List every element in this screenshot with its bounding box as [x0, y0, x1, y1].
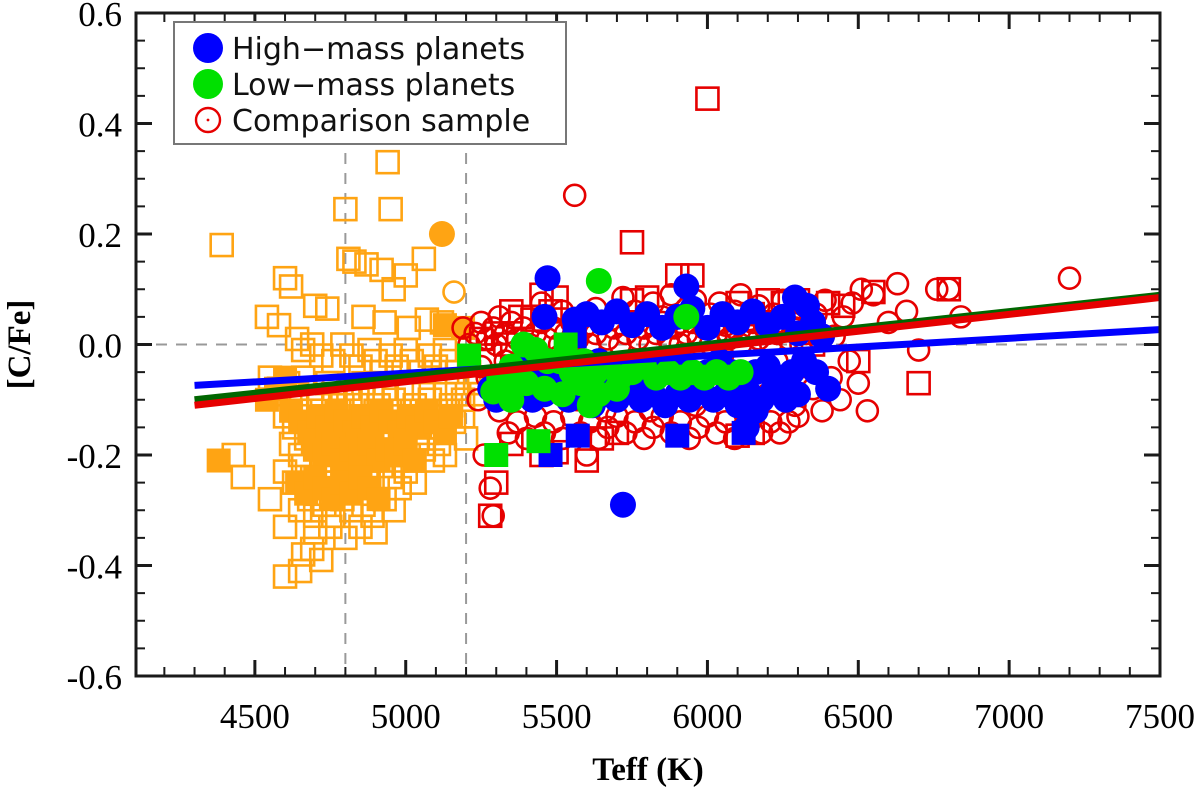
data-point-open-square — [908, 372, 930, 394]
y-tick-label: 0.4 — [78, 106, 122, 145]
data-point-open-circle — [480, 478, 501, 499]
x-tick-label: 6000 — [672, 697, 742, 736]
data-point-open-square — [374, 311, 396, 333]
data-point-circle — [532, 304, 558, 330]
scatter-plot: 4500500055006000650070007500-0.6-0.4-0.2… — [0, 0, 1200, 792]
y-tick-label: 0.6 — [78, 0, 122, 34]
y-tick-label: -0.6 — [67, 658, 122, 697]
data-point-open-square — [259, 488, 281, 510]
data-point-square — [566, 424, 590, 448]
data-point-open-square — [621, 231, 643, 253]
data-point-open-square — [380, 198, 402, 220]
data-point-square — [439, 404, 463, 428]
legend-marker-filled-circle — [193, 69, 223, 99]
y-tick-label: -0.2 — [67, 437, 122, 476]
data-point-open-square — [211, 234, 233, 256]
data-point-square — [732, 421, 756, 445]
data-point-open-square — [352, 306, 374, 328]
data-point-open-circle — [444, 282, 465, 303]
data-point-open-square — [485, 472, 507, 494]
data-point-square — [457, 344, 481, 368]
data-point-open-square — [274, 267, 296, 289]
data-point-open-circle — [857, 400, 878, 421]
data-point-open-square — [696, 88, 718, 110]
legend-marker-filled-circle — [193, 33, 223, 63]
data-point-circle — [577, 392, 603, 418]
data-point-square — [367, 487, 391, 511]
data-point-open-square — [232, 466, 254, 488]
legend-label: Comparison sample — [232, 104, 530, 139]
data-point-circle — [604, 376, 630, 402]
data-point-open-circle — [938, 279, 959, 300]
data-point-circle — [492, 373, 518, 399]
y-tick-label: -0.4 — [67, 548, 122, 587]
legend-label: Low−mass planets — [232, 68, 515, 103]
data-point-circle — [728, 359, 754, 385]
data-point-square — [554, 333, 578, 357]
legend-label: High−mass planets — [232, 32, 525, 67]
x-tick-label: 5500 — [522, 697, 592, 736]
legend-marker-dot-icon — [207, 119, 210, 122]
data-point-square — [484, 443, 508, 467]
data-point-open-square — [377, 151, 399, 173]
data-point-open-square — [847, 350, 869, 372]
data-point-open-circle — [564, 185, 585, 206]
data-point-circle — [815, 376, 841, 402]
y-tick-label: 0.2 — [78, 216, 122, 255]
data-point-square — [526, 429, 550, 453]
data-point-circle — [535, 265, 561, 291]
data-point-open-circle — [887, 273, 908, 294]
data-point-open-circle — [848, 373, 869, 394]
x-tick-label: 7500 — [1125, 697, 1195, 736]
x-tick-label: 7000 — [974, 697, 1044, 736]
chart-root: 4500500055006000650070007500-0.6-0.4-0.2… — [0, 0, 1200, 792]
data-point-circle — [429, 221, 455, 247]
data-point-circle — [586, 268, 612, 294]
data-point-circle — [610, 492, 636, 518]
data-point-circle — [673, 273, 699, 299]
data-point-circle — [743, 398, 769, 424]
series-cool-comparison-open-circles — [444, 282, 465, 303]
data-point-open-circle — [1059, 268, 1080, 289]
data-point-circle — [785, 381, 811, 407]
data-point-open-square — [274, 516, 296, 538]
data-point-open-circle — [839, 351, 860, 372]
data-point-open-square — [280, 275, 302, 297]
x-tick-label: 4500 — [220, 697, 290, 736]
data-point-square — [207, 449, 231, 473]
x-tick-label: 6500 — [823, 697, 893, 736]
data-point-square — [403, 449, 427, 473]
x-axis-title: Teff (K) — [592, 752, 704, 788]
legend: High−mass planetsLow−mass planetsCompari… — [174, 22, 566, 144]
data-point-square — [665, 424, 689, 448]
series-cool-comparison-circles — [429, 221, 455, 247]
x-tick-label: 5000 — [371, 697, 441, 736]
y-tick-label: 0.0 — [78, 327, 122, 366]
data-point-open-square — [274, 566, 296, 588]
data-point-circle — [673, 304, 699, 330]
y-axis-title: [C/Fe] — [2, 300, 38, 390]
